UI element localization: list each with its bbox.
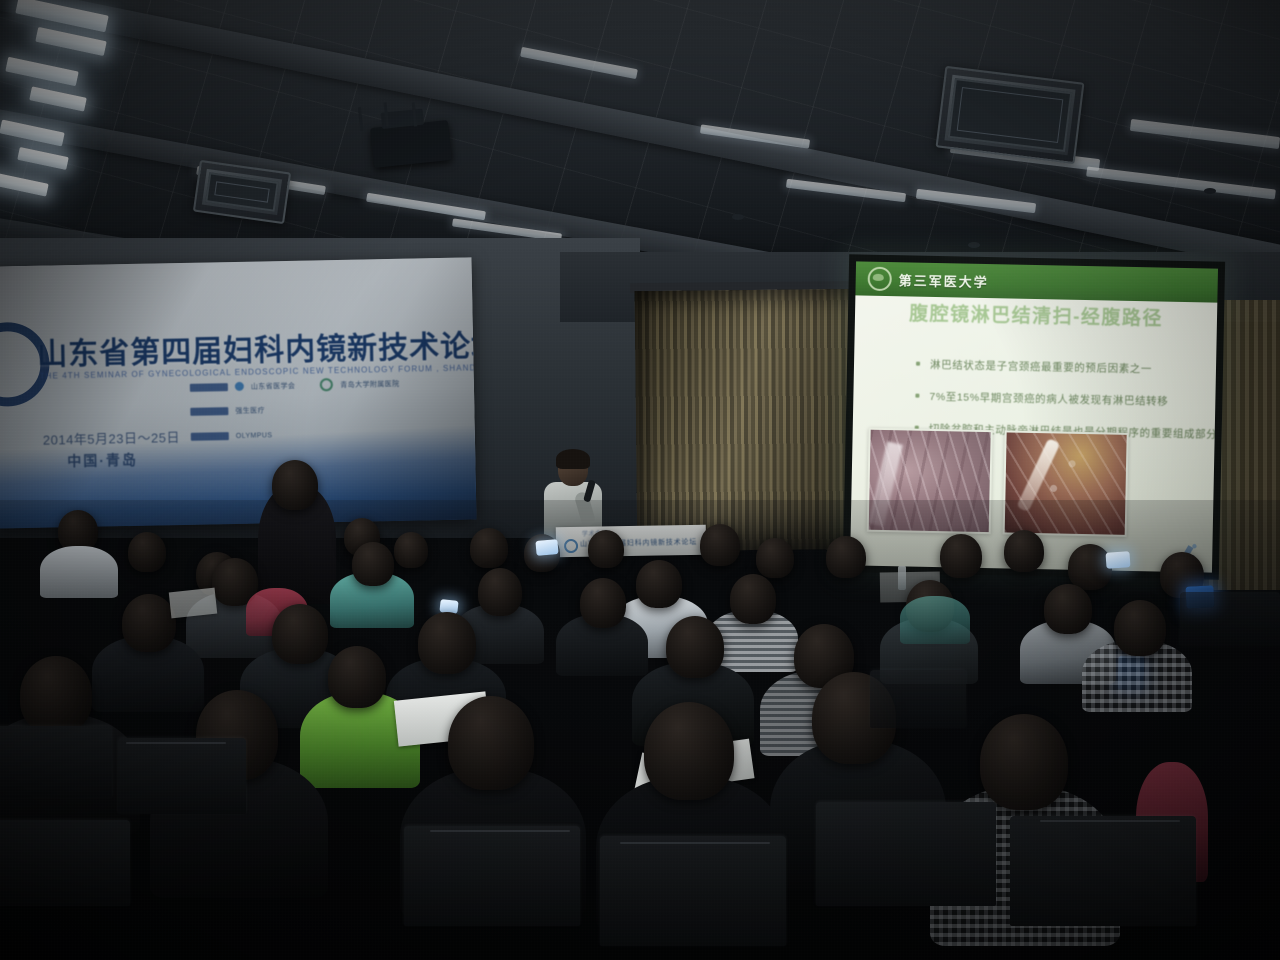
conference-hall-photo: 山东省第四届妇科内镜新技术论坛 THE 4TH SEMINAR OF GYNEC…	[0, 0, 1280, 960]
audience-head	[1068, 544, 1112, 590]
audience-shoulders	[900, 596, 970, 644]
sponsor-name: 山东省医学会	[251, 380, 296, 391]
sponsor-row: 强生医疗	[190, 405, 265, 416]
banner-title: 山东省第四届妇科内镜新技术论坛	[37, 321, 477, 374]
banner-subtitle: THE 4TH SEMINAR OF GYNECOLOGICAL ENDOSCO…	[40, 363, 477, 381]
photographer-head	[272, 460, 318, 510]
audience-head	[478, 568, 522, 616]
audience-head	[128, 532, 166, 572]
audience-head	[644, 702, 734, 800]
audience-head	[940, 534, 982, 578]
audience-head	[588, 530, 624, 568]
slide-title: 腹腔镜淋巴结清扫-经腹路径	[855, 297, 1217, 331]
seat-highlight	[430, 830, 570, 832]
sponsor-row: OLYMPUS	[191, 431, 273, 441]
program-handout	[169, 588, 217, 619]
auditorium-seat	[0, 726, 112, 798]
sponsor-tag	[190, 407, 228, 416]
audience-head	[580, 578, 626, 628]
sponsor-logo-mark	[320, 378, 333, 391]
sponsor-name: 青岛大学附属医院	[340, 378, 399, 389]
smoke-detector	[732, 214, 744, 220]
sponsor-name: OLYMPUS	[236, 432, 273, 440]
auditorium-seat	[600, 836, 786, 946]
auditorium-seat	[870, 670, 966, 728]
audience-head	[1004, 530, 1044, 572]
audience-area	[0, 500, 1280, 960]
sponsor-tag	[191, 432, 229, 441]
auditorium-seat	[816, 802, 996, 906]
audience-head	[700, 524, 740, 566]
auditorium-seat	[1180, 592, 1280, 646]
audience-head	[418, 612, 476, 674]
audience-head	[756, 538, 794, 578]
ceiling-projector	[370, 120, 452, 168]
audience-head	[980, 714, 1068, 810]
slide-header-bar: 第三军医大学	[855, 261, 1218, 302]
auditorium-seat	[1010, 816, 1196, 926]
slide-bullet: 7%至15%早期宫颈癌的病人被发现有淋巴结转移	[915, 389, 1201, 410]
audience-head	[1114, 600, 1166, 656]
banner-date: 2014年5月23日～25日	[43, 427, 180, 449]
seat-highlight	[126, 742, 226, 744]
slide-org-name: 第三军医大学	[899, 270, 989, 291]
audience-head	[272, 604, 328, 664]
audience-head	[636, 560, 682, 608]
audience-head	[470, 528, 508, 568]
audience-head	[666, 616, 724, 678]
auditorium-seat	[0, 820, 130, 906]
slide-bullet: 淋巴结状态是子宫颈癌最重要的预后因素之一	[916, 357, 1202, 378]
ceiling-ac-diffuser	[936, 66, 1085, 164]
seat-highlight	[1040, 820, 1180, 822]
audience-head	[448, 696, 534, 790]
audience-head	[352, 542, 394, 586]
auditorium-seat	[118, 738, 246, 814]
event-backdrop-banner: 山东省第四届妇科内镜新技术论坛 THE 4TH SEMINAR OF GYNEC…	[0, 257, 476, 528]
audience-head	[328, 646, 386, 708]
auditorium-seat	[404, 826, 580, 926]
sponsor-name: 强生医疗	[235, 405, 265, 416]
seat-highlight	[620, 842, 770, 844]
presenter-hair	[556, 449, 590, 469]
audience-shoulders sh-white	[40, 546, 118, 598]
smoke-detector	[1204, 188, 1216, 194]
audience-head	[730, 574, 776, 624]
audience-head	[122, 594, 176, 652]
smoke-detector	[968, 242, 980, 248]
sponsor-tag	[190, 383, 228, 392]
sponsor-logo-mark	[235, 382, 244, 391]
forum-ring-logo	[0, 322, 50, 408]
audience-head	[20, 656, 92, 734]
audience-head	[1044, 584, 1092, 634]
sponsor-row: 山东省医学会 青岛大学附属医院	[190, 377, 400, 394]
audience-head	[394, 532, 428, 568]
audience-head	[826, 536, 866, 578]
banner-city: 中国·青岛	[67, 450, 138, 471]
smartphone-screen	[535, 539, 558, 556]
smartphone-screen	[1105, 551, 1130, 569]
university-emblem-icon	[868, 267, 892, 291]
